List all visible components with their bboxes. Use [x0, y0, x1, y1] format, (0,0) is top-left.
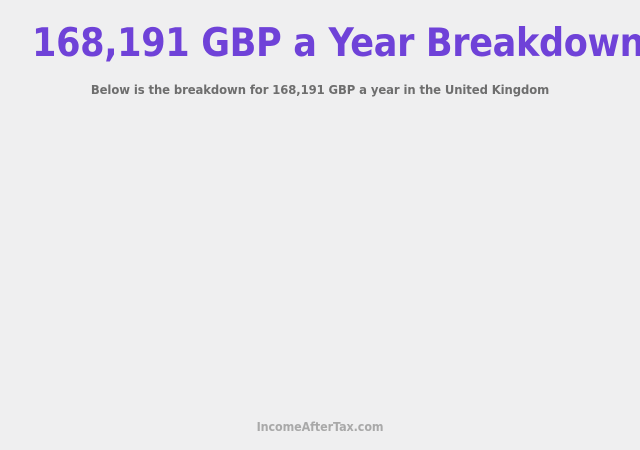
site-credit: IncomeAfterTax.com [22, 419, 617, 435]
page-header: 168,191 GBP a Year Breakdown Below is th… [0, 0, 640, 98]
page-root: 168,191 GBP a Year Breakdown Below is th… [0, 0, 640, 450]
page-subtitle: Below is the breakdown for 168,191 GBP a… [22, 82, 617, 98]
page-footer: IncomeAfterTax.com [0, 419, 640, 435]
page-title: 168,191 GBP a Year Breakdown [32, 22, 608, 66]
breakdown-content-area [0, 122, 640, 410]
